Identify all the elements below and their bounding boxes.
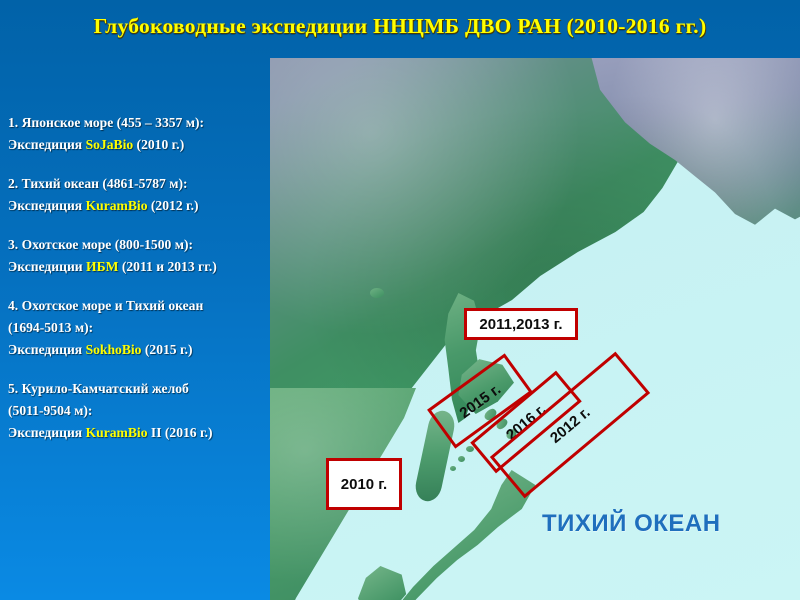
slide-root: Глубоководные экспедиции ННЦМБ ДВО РАН (…: [0, 0, 800, 600]
landmass-islet: [458, 456, 465, 462]
ocean-label-pacific: ТИХИЙ ОКЕАН: [542, 510, 721, 538]
legend-item-2-expedition-name: ИБМ: [86, 259, 118, 274]
legend-item-3-expedition-suffix: (2015 г.): [141, 342, 192, 357]
legend-item-2-expedition-suffix: (2011 и 2013 гг.): [118, 259, 216, 274]
list-item: 2. Тихий океан (4861-5787 м): Экспедиция…: [8, 173, 266, 217]
legend-item-1-expedition-prefix: Экспедиция: [8, 198, 86, 213]
legend-item-4-expedition-name: KuramBio: [86, 425, 148, 440]
legend-item-3-depth: (1694-5013 м):: [8, 317, 266, 339]
legend-item-4-expedition: Экспедиция KuramBio II (2016 г.): [8, 422, 266, 444]
legend-item-2-expedition: Экспедиции ИБМ (2011 и 2013 гг.): [8, 256, 266, 278]
legend-item-0-expedition-suffix: (2010 г.): [133, 137, 184, 152]
legend-item-1-expedition-name: KuramBio: [86, 198, 148, 213]
page-title: Глубоководные экспедиции ННЦМБ ДВО РАН (…: [94, 14, 707, 39]
legend-item-0-expedition-prefix: Экспедиция: [8, 137, 86, 152]
landmass-islet: [370, 288, 384, 298]
list-item: 4. Охотское море и Тихий океан (1694-501…: [8, 295, 266, 361]
legend-item-0-location: 1. Японское море (455 – 3357 м):: [8, 112, 266, 134]
relief-map: 2011,2013 г. 2010 г. 2015 г. 2016 г. 201…: [270, 58, 800, 600]
slide-title-bar: Глубоководные экспедиции ННЦМБ ДВО РАН (…: [0, 0, 800, 52]
legend-item-1-expedition-suffix: (2012 г.): [148, 198, 199, 213]
station-box-label-2010: 2010 г.: [326, 458, 402, 510]
legend-item-1-expedition: Экспедиция KuramBio (2012 г.): [8, 195, 266, 217]
legend-item-0-expedition: Экспедиция SoJaBio (2010 г.): [8, 134, 266, 156]
legend-item-4-expedition-prefix: Экспедиция: [8, 425, 86, 440]
legend-item-4-location: 5. Курило-Камчатский желоб: [8, 378, 266, 400]
station-box-label-2011-2013: 2011,2013 г.: [464, 308, 578, 340]
legend-item-0-expedition-name: SoJaBio: [86, 137, 134, 152]
legend-item-3-expedition: Экспедиция SokhoBio (2015 г.): [8, 339, 266, 361]
legend-item-3-expedition-name: SokhoBio: [86, 342, 142, 357]
list-item: 3. Охотское море (800-1500 м): Экспедици…: [8, 234, 266, 278]
legend-item-4-depth: (5011-9504 м):: [8, 400, 266, 422]
legend-item-2-expedition-prefix: Экспедиции: [8, 259, 86, 274]
expedition-legend-list: 1. Японское море (455 – 3357 м): Экспеди…: [8, 112, 266, 461]
landmass-islet: [450, 466, 456, 471]
legend-item-1-location: 2. Тихий океан (4861-5787 м):: [8, 173, 266, 195]
legend-item-3-location: 4. Охотское море и Тихий океан: [8, 295, 266, 317]
legend-item-3-expedition-prefix: Экспедиция: [8, 342, 86, 357]
list-item: 1. Японское море (455 – 3357 м): Экспеди…: [8, 112, 266, 156]
legend-item-2-location: 3. Охотское море (800-1500 м):: [8, 234, 266, 256]
legend-item-4-expedition-suffix: II (2016 г.): [148, 425, 213, 440]
list-item: 5. Курило-Камчатский желоб (5011-9504 м)…: [8, 378, 266, 444]
